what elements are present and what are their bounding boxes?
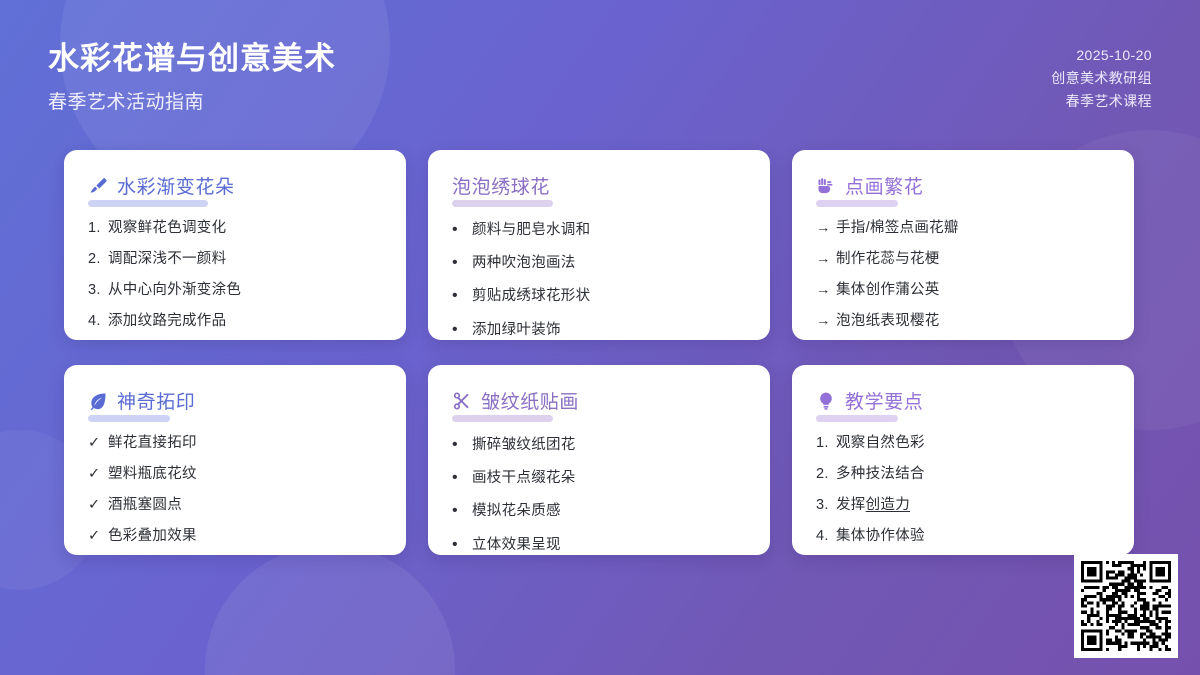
list-item-text: 多种技法结合 — [836, 464, 925, 485]
list-item-text: 从中心向外渐变涂色 — [108, 280, 241, 301]
card-list: 1.观察鲜花色调变化2.调配深浅不一颜料3.从中心向外渐变涂色4.添加纹路完成作… — [88, 218, 382, 332]
list-item: 4.集体协作体验 — [816, 526, 1110, 547]
list-item-text: 塑料瓶底花纹 — [108, 464, 197, 485]
list-item-text: 观察鲜花色调变化 — [108, 218, 226, 239]
list-marker: → — [816, 280, 836, 301]
list-item: •模拟花朵质感 — [452, 499, 746, 522]
list-marker: 3. — [816, 495, 836, 516]
card-header: 水彩渐变花朵 — [88, 172, 382, 199]
list-item-text: 发挥创造力 — [836, 495, 910, 516]
card-title: 教学要点 — [845, 387, 923, 414]
list-marker: • — [452, 433, 472, 456]
list-item: •画枝干点缀花朵 — [452, 466, 746, 489]
list-item: →手指/棉签点画花瓣 — [816, 218, 1110, 239]
lightbulb-icon — [816, 391, 836, 411]
list-item-text: 手指/棉签点画花瓣 — [836, 218, 959, 239]
list-item-text: 鲜花直接拓印 — [108, 433, 197, 454]
card-list: •颜料与肥皂水调和•两种吹泡泡画法•剪贴成绣球花形状•添加绿叶装饰 — [452, 218, 746, 340]
list-marker: ✓ — [88, 433, 108, 454]
card-list: •撕碎皱纹纸团花•画枝干点缀花朵•模拟花朵质感•立体效果呈现 — [452, 433, 746, 555]
card-title: 皱纹纸贴画 — [481, 387, 579, 414]
list-item-text: 调配深浅不一颜料 — [108, 249, 226, 270]
list-item-text: 色彩叠加效果 — [108, 526, 197, 547]
card-list: 1.观察自然色彩2.多种技法结合3.发挥创造力4.集体协作体验 — [816, 433, 1110, 547]
list-item-text: 剪贴成绣球花形状 — [472, 286, 590, 307]
title-underline — [88, 200, 208, 207]
title-underline — [816, 200, 898, 207]
title-underline — [452, 415, 553, 422]
card-list: ✓鲜花直接拓印✓塑料瓶底花纹✓酒瓶塞圆点✓色彩叠加效果 — [88, 433, 382, 547]
card-title: 泡泡绣球花 — [452, 172, 550, 199]
list-marker: → — [816, 218, 836, 239]
list-marker: ✓ — [88, 495, 108, 516]
list-marker: 2. — [816, 464, 836, 485]
list-item-text: 两种吹泡泡画法 — [472, 253, 576, 274]
list-marker: • — [452, 533, 472, 555]
list-item-text: 制作花蕊与花梗 — [836, 249, 940, 270]
list-item: →集体创作蒲公英 — [816, 280, 1110, 301]
activity-card: 教学要点1.观察自然色彩2.多种技法结合3.发挥创造力4.集体协作体验 — [792, 365, 1134, 555]
list-item-text: 酒瓶塞圆点 — [108, 495, 182, 516]
slide-root: 水彩花谱与创意美术 春季艺术活动指南 2025-10-20 创意美术教研组 春季… — [0, 0, 1200, 675]
title-underline — [88, 415, 170, 422]
list-item-text: 模拟花朵质感 — [472, 501, 561, 522]
list-marker: • — [452, 318, 472, 340]
page-title: 水彩花谱与创意美术 — [48, 40, 336, 79]
list-marker: ✓ — [88, 464, 108, 485]
list-item-text: 添加绿叶装饰 — [472, 320, 561, 340]
page-subtitle: 春季艺术活动指南 — [48, 87, 336, 114]
card-title: 神奇拓印 — [117, 387, 195, 414]
card-header: 神奇拓印 — [88, 387, 382, 414]
list-item: 2.多种技法结合 — [816, 464, 1110, 485]
qr-code[interactable] — [1074, 554, 1178, 658]
activity-card: 神奇拓印✓鲜花直接拓印✓塑料瓶底花纹✓酒瓶塞圆点✓色彩叠加效果 — [64, 365, 406, 555]
card-header: 教学要点 — [816, 387, 1110, 414]
title-underline — [452, 200, 553, 207]
list-item: 1.观察鲜花色调变化 — [88, 218, 382, 239]
list-marker: 3. — [88, 280, 108, 301]
activity-card: 水彩渐变花朵1.观察鲜花色调变化2.调配深浅不一颜料3.从中心向外渐变涂色4.添… — [64, 150, 406, 340]
list-item: •立体效果呈现 — [452, 533, 746, 555]
list-item-text: 观察自然色彩 — [836, 433, 925, 454]
pointing-hand-icon — [816, 176, 836, 196]
list-marker: 4. — [88, 311, 108, 332]
list-item-text: 立体效果呈现 — [472, 535, 561, 555]
meta-course: 春季艺术课程 — [1051, 90, 1152, 113]
title-block: 水彩花谱与创意美术 春季艺术活动指南 — [48, 40, 336, 114]
activity-card: 皱纹纸贴画•撕碎皱纹纸团花•画枝干点缀花朵•模拟花朵质感•立体效果呈现 — [428, 365, 770, 555]
list-item: →泡泡纸表现樱花 — [816, 311, 1110, 332]
list-marker: → — [816, 249, 836, 270]
scissors-icon — [452, 391, 472, 411]
list-item: •添加绿叶装饰 — [452, 318, 746, 340]
list-item-text: 颜料与肥皂水调和 — [472, 220, 590, 241]
activity-card: 泡泡绣球花•颜料与肥皂水调和•两种吹泡泡画法•剪贴成绣球花形状•添加绿叶装饰 — [428, 150, 770, 340]
list-marker: → — [816, 311, 836, 332]
list-marker: 1. — [816, 433, 836, 454]
card-list: →手指/棉签点画花瓣→制作花蕊与花梗→集体创作蒲公英→泡泡纸表现樱花 — [816, 218, 1110, 332]
header-meta: 2025-10-20 创意美术教研组 春季艺术课程 — [1051, 40, 1152, 113]
activity-card: 点画繁花→手指/棉签点画花瓣→制作花蕊与花梗→集体创作蒲公英→泡泡纸表现樱花 — [792, 150, 1134, 340]
list-item: 2.调配深浅不一颜料 — [88, 249, 382, 270]
list-item: ✓塑料瓶底花纹 — [88, 464, 382, 485]
list-marker: • — [452, 218, 472, 241]
card-title: 水彩渐变花朵 — [117, 172, 235, 199]
list-item-text: 画枝干点缀花朵 — [472, 468, 576, 489]
title-underline — [816, 415, 898, 422]
meta-date: 2025-10-20 — [1051, 44, 1152, 67]
list-item: •撕碎皱纹纸团花 — [452, 433, 746, 456]
card-header: 皱纹纸贴画 — [452, 387, 746, 414]
list-item: 4.添加纹路完成作品 — [88, 311, 382, 332]
card-grid: 水彩渐变花朵1.观察鲜花色调变化2.调配深浅不一颜料3.从中心向外渐变涂色4.添… — [64, 150, 1136, 555]
list-marker: ✓ — [88, 526, 108, 547]
list-item-text: 撕碎皱纹纸团花 — [472, 435, 576, 456]
list-item-text: 泡泡纸表现樱花 — [836, 311, 940, 332]
meta-org: 创意美术教研组 — [1051, 67, 1152, 90]
list-marker: • — [452, 284, 472, 307]
list-item: ✓鲜花直接拓印 — [88, 433, 382, 454]
list-item: •两种吹泡泡画法 — [452, 251, 746, 274]
list-marker: 1. — [88, 218, 108, 239]
list-marker: 4. — [816, 526, 836, 547]
paintbrush-icon — [88, 176, 108, 196]
list-marker: • — [452, 499, 472, 522]
card-title: 点画繁花 — [845, 172, 923, 199]
list-item: →制作花蕊与花梗 — [816, 249, 1110, 270]
list-item: ✓酒瓶塞圆点 — [88, 495, 382, 516]
list-item-text: 集体协作体验 — [836, 526, 925, 547]
list-item: •剪贴成绣球花形状 — [452, 284, 746, 307]
list-marker: 2. — [88, 249, 108, 270]
card-header: 泡泡绣球花 — [452, 172, 746, 199]
list-item: 1.观察自然色彩 — [816, 433, 1110, 454]
card-header: 点画繁花 — [816, 172, 1110, 199]
list-item: ✓色彩叠加效果 — [88, 526, 382, 547]
slide-header: 水彩花谱与创意美术 春季艺术活动指南 2025-10-20 创意美术教研组 春季… — [0, 0, 1200, 140]
list-marker: • — [452, 466, 472, 489]
list-item: 3.从中心向外渐变涂色 — [88, 280, 382, 301]
qr-code-image — [1081, 561, 1171, 651]
leaf-icon — [88, 391, 108, 411]
list-marker: • — [452, 251, 472, 274]
list-item: •颜料与肥皂水调和 — [452, 218, 746, 241]
list-item: 3.发挥创造力 — [816, 495, 1110, 516]
decorative-circle — [205, 545, 455, 675]
list-item-text: 集体创作蒲公英 — [836, 280, 940, 301]
list-item-text: 添加纹路完成作品 — [108, 311, 226, 332]
